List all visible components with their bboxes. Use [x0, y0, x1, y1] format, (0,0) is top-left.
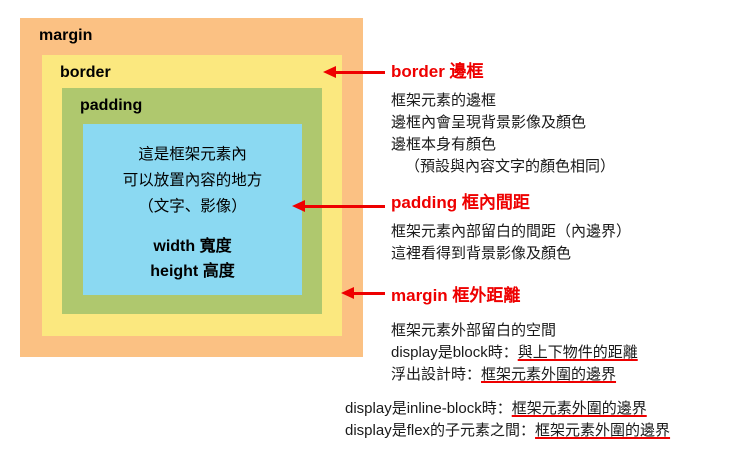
note-margin-inline-block-prefix: display是inline-block時：	[345, 400, 512, 417]
note-padding-line-1: 框架元素內部留白的間距（內邊界）	[391, 221, 631, 243]
note-heading-padding: padding 框內間距	[391, 194, 530, 211]
note-margin-block-underlined: 與上下物件的距離	[518, 344, 638, 361]
note-body-margin: 框架元素外部留白的空間 display是block時：與上下物件的距離 浮出設計…	[391, 320, 638, 386]
note-border-line-1: 框架元素的邊框	[391, 90, 615, 112]
note-border-line-3: 邊框本身有顏色	[391, 134, 615, 156]
note-margin-float-prefix: 浮出設計時：	[391, 366, 481, 383]
note-margin-line-flex: display是flex的子元素之間：框架元素外圍的邊界	[345, 420, 670, 442]
note-margin-line-1: 框架元素外部留白的空間	[391, 320, 638, 342]
note-margin-flex-underlined: 框架元素外圍的邊界	[535, 422, 670, 439]
note-border-line-2: 邊框內會呈現背景影像及顏色	[391, 112, 615, 134]
note-padding-line-2: 這裡看得到背景影像及顏色	[391, 243, 631, 265]
note-margin-line-float: 浮出設計時：框架元素外圍的邊界	[391, 364, 638, 386]
note-margin-inline-block-underlined: 框架元素外圍的邊界	[512, 400, 647, 417]
note-margin-flex-prefix: display是flex的子元素之間：	[345, 422, 535, 439]
note-heading-border: border 邊框	[391, 63, 484, 80]
note-body-margin-extra: display是inline-block時：框架元素外圍的邊界 display是…	[345, 398, 670, 442]
note-border-line-4: （預設與內容文字的顏色相同）	[391, 156, 615, 178]
note-margin-line-block: display是block時：與上下物件的距離	[391, 342, 638, 364]
note-margin-float-underlined: 框架元素外圍的邊界	[481, 366, 616, 383]
note-body-border: 框架元素的邊框 邊框內會呈現背景影像及顏色 邊框本身有顏色 （預設與內容文字的顏…	[391, 90, 615, 178]
note-margin-block-prefix: display是block時：	[391, 344, 518, 361]
note-heading-margin: margin 框外距離	[391, 287, 520, 304]
note-body-padding: 框架元素內部留白的間距（內邊界） 這裡看得到背景影像及顏色	[391, 221, 631, 265]
notes-panel: border 邊框 框架元素的邊框 邊框內會呈現背景影像及顏色 邊框本身有顏色 …	[0, 0, 750, 461]
note-margin-line-inline-block: display是inline-block時：框架元素外圍的邊界	[345, 398, 670, 420]
